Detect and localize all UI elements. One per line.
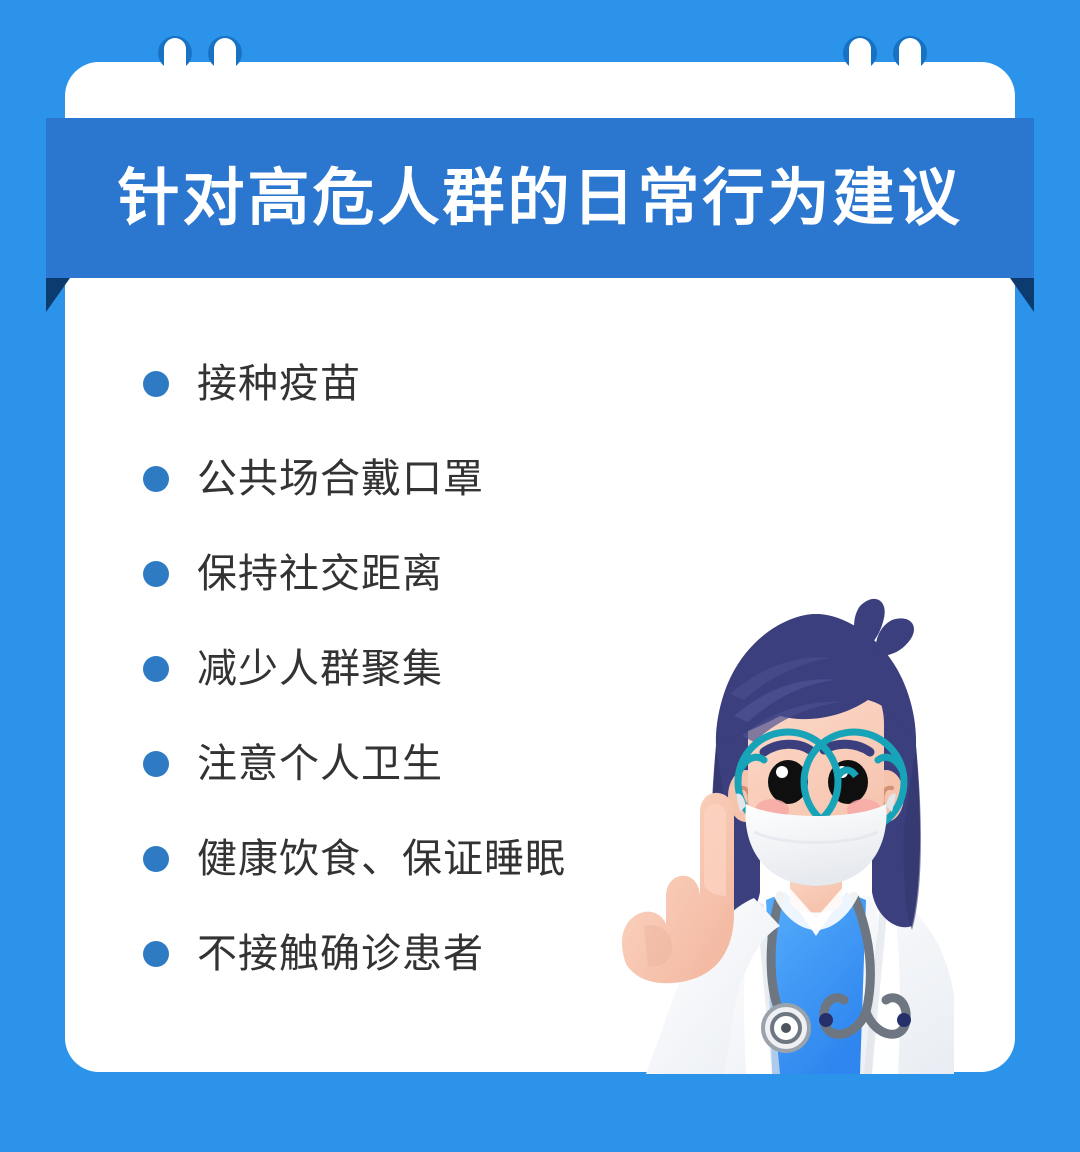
- banner-fold-left: [46, 278, 70, 312]
- list-item-label: 公共场合戴口罩: [197, 457, 484, 501]
- list-item: 注意个人卫生: [143, 735, 763, 793]
- list-item: 健康饮食、保证睡眠: [143, 830, 763, 888]
- bullet-icon: [143, 466, 169, 492]
- poster-root: 针对高危人群的日常行为建议 接种疫苗 公共场合戴口罩 保持社交距离 减少人群聚集…: [0, 0, 1080, 1152]
- advice-list: 接种疫苗 公共场合戴口罩 保持社交距离 减少人群聚集 注意个人卫生 健康饮食、保…: [143, 355, 763, 1020]
- list-item-label: 健康饮食、保证睡眠: [197, 837, 566, 881]
- list-item: 保持社交距离: [143, 545, 763, 603]
- bullet-icon: [143, 846, 169, 872]
- ring-bar-1: [164, 38, 186, 94]
- list-item-label: 不接触确诊患者: [197, 932, 484, 976]
- list-item-label: 接种疫苗: [197, 362, 361, 406]
- banner-fold-right: [1010, 278, 1034, 312]
- ring-bar-3: [849, 38, 871, 94]
- ring-bar-2: [214, 38, 236, 94]
- list-item-label: 注意个人卫生: [197, 742, 443, 786]
- page-title: 针对高危人群的日常行为建议: [117, 167, 962, 229]
- list-item-label: 保持社交距离: [197, 552, 443, 596]
- bullet-icon: [143, 561, 169, 587]
- list-item: 减少人群聚集: [143, 640, 763, 698]
- bullet-icon: [143, 371, 169, 397]
- bullet-icon: [143, 941, 169, 967]
- list-item: 公共场合戴口罩: [143, 450, 763, 508]
- list-item-label: 减少人群聚集: [197, 647, 443, 691]
- ring-bar-4: [899, 38, 921, 94]
- list-item: 接种疫苗: [143, 355, 763, 413]
- list-item: 不接触确诊患者: [143, 925, 763, 983]
- bullet-icon: [143, 656, 169, 682]
- title-banner: 针对高危人群的日常行为建议: [46, 118, 1034, 278]
- bullet-icon: [143, 751, 169, 777]
